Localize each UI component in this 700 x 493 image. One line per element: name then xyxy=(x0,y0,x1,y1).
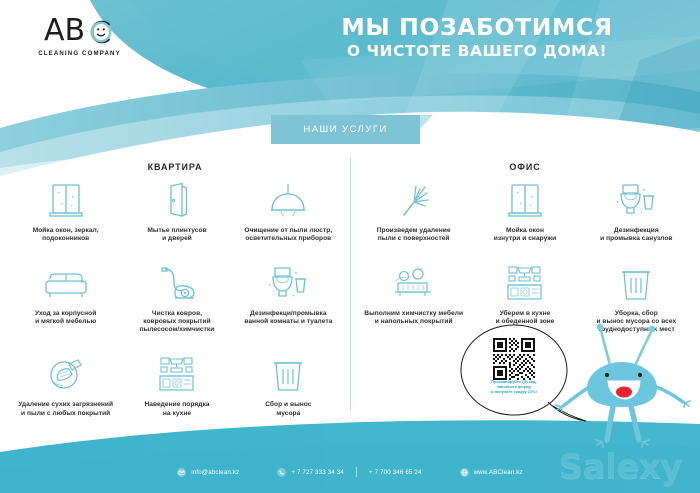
apartment-services-grid: Мойка окон, зеркал, подоконников Мытье п… xyxy=(10,180,344,418)
envelope-icon xyxy=(177,468,186,477)
service-label: Дезинфекци/промывка ванной комнаты и туа… xyxy=(244,310,332,326)
column-title-apartment: КВАРТИРА xyxy=(0,162,350,172)
phone-icon xyxy=(277,468,286,477)
logo-letters-ab: AB xyxy=(44,16,85,46)
service-item[interactable]: Наведение порядка на кухне xyxy=(121,354,232,417)
footer-phones[interactable]: + 7 727 333 34 34 + 7 700 346 65 24 xyxy=(277,467,421,477)
footer-email-text: info@abclean.kz xyxy=(191,469,239,476)
service-label: Мытье плинтусов и дверей xyxy=(147,227,206,243)
service-item[interactable]: Очищение от пыли люстр, осветительных пр… xyxy=(233,180,344,243)
trash-bin-icon xyxy=(619,263,653,305)
sofa-icon xyxy=(44,263,88,305)
headline-line-2: О ЧИСТОТЕ ВАШЕГО ДОМА! xyxy=(282,42,672,61)
kitchen-icon xyxy=(156,354,198,396)
service-item[interactable]: Мойка окон, зеркал, подоконников xyxy=(10,180,121,243)
footer-phone-2: + 7 700 346 65 24 xyxy=(369,469,422,476)
feather-duster-icon xyxy=(394,180,434,222)
salexy-watermark: Salexy xyxy=(559,447,682,487)
services-ribbon-label: НАШИ УСЛУГИ xyxy=(303,124,387,135)
service-label: Мойка окон изнутри и снаружи xyxy=(494,227,557,243)
mascot-character xyxy=(556,324,690,447)
service-label: Мойка окон, зеркал, подоконников xyxy=(33,227,99,243)
toilet-icon xyxy=(614,180,658,222)
service-label: Чистка ковров, ковровых покрытий пылесос… xyxy=(140,310,215,334)
footer-phone-separator xyxy=(356,467,357,477)
headline-line-1: МЫ ПОЗАБОТИМСЯ xyxy=(282,14,672,41)
trash-bin-icon xyxy=(271,354,305,396)
logo-smiley-c-icon xyxy=(87,18,115,46)
service-label: Очищение от пыли люстр, осветительных пр… xyxy=(244,227,332,243)
globe-icon xyxy=(460,468,469,477)
service-label: Произведем удаление пыли с поверхностей xyxy=(377,227,451,243)
promo-block: Просканируйте QR код, заполните форму и … xyxy=(455,318,700,448)
chandelier-icon xyxy=(267,180,309,222)
footer-email[interactable]: info@abclean.kz xyxy=(177,468,239,477)
footer-phone-1: + 7 727 333 34 34 xyxy=(291,469,344,476)
toilet-icon xyxy=(266,263,310,305)
poster-canvas: AB CLEANING COMPANY МЫ ПОЗАБОТИМСЯ О ЧИС… xyxy=(0,0,700,493)
service-item[interactable]: Уход за корпусной и мягкой мебелью xyxy=(10,263,121,334)
column-divider xyxy=(350,158,351,410)
duster-hand-icon xyxy=(45,354,87,396)
vacuum-icon xyxy=(156,263,198,305)
service-item[interactable]: Произведем удаление пыли с поверхностей xyxy=(358,180,469,243)
window-icon xyxy=(506,180,544,222)
window-icon xyxy=(47,180,85,222)
ribbon-tail xyxy=(420,115,433,129)
service-label: Выполним химчистку мебели и напольных по… xyxy=(364,310,463,326)
service-item[interactable]: Сбор и вынос мусора xyxy=(233,354,344,417)
service-label: Удаление сухих загрязнений и пыли с любы… xyxy=(18,401,113,417)
service-item[interactable]: Выполним химчистку мебели и напольных по… xyxy=(358,263,469,334)
service-label: Наведение порядка на кухне xyxy=(144,401,209,417)
service-item[interactable]: Мойка окон изнутри и снаружи xyxy=(469,180,580,243)
service-item[interactable]: Удаление сухих загрязнений и пыли с любы… xyxy=(10,354,121,417)
service-label: Сбор и вынос мусора xyxy=(265,401,311,417)
qr-code[interactable] xyxy=(493,338,535,380)
door-icon xyxy=(158,180,196,222)
logo-subtitle: CLEANING COMPANY xyxy=(22,50,137,57)
service-item[interactable]: Мытье плинтусов и дверей xyxy=(121,180,232,243)
logo-mark: AB xyxy=(22,16,137,46)
service-label: Уход за корпусной и мягкой мебелью xyxy=(35,310,96,326)
office-furniture-icon xyxy=(391,263,437,305)
headline-block: МЫ ПОЗАБОТИМСЯ О ЧИСТОТЕ ВАШЕГО ДОМА! xyxy=(282,14,672,61)
service-label: Дезинфекция и промывка санузлов xyxy=(600,227,672,243)
service-item[interactable]: Дезинфекци/промывка ванной комнаты и туа… xyxy=(233,263,344,334)
column-title-office: ОФИС xyxy=(350,162,700,172)
office-services-grid: Произведем удаление пыли с поверхностей … xyxy=(358,180,692,334)
service-item[interactable]: Чистка ковров, ковровых покрытий пылесос… xyxy=(121,263,232,334)
kitchen-icon xyxy=(504,263,546,305)
services-ribbon: НАШИ УСЛУГИ xyxy=(271,115,420,144)
promo-bubble-text: Просканируйте QR код, заполните форму и … xyxy=(471,379,557,395)
footer-website[interactable]: www.ABClean.kz xyxy=(460,468,523,477)
brand-logo: AB CLEANING COMPANY xyxy=(22,16,137,57)
service-item[interactable]: Дезинфекция и промывка санузлов xyxy=(581,180,692,243)
footer-website-text: www.ABClean.kz xyxy=(474,469,523,476)
